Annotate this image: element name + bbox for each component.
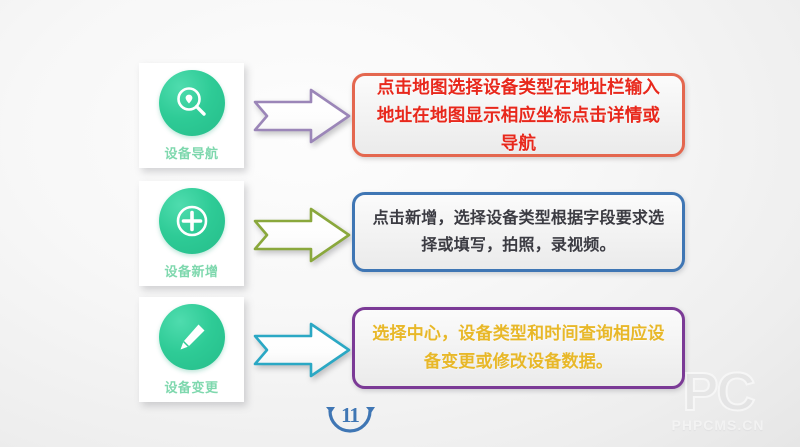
right-arrow-icon: [253, 88, 351, 144]
description-balloon-navigation: 点击地图选择设备类型在地址栏输入地址在地图显示相应坐标点击详情或导航: [352, 73, 685, 157]
slide-number-text: 11: [341, 405, 359, 426]
magnifier-search-icon: [159, 70, 225, 136]
app-card-label: 设备导航: [164, 143, 218, 162]
balloon-text: 点击新增，选择设备类型根据字段要求选择或填写，拍照，录视频。: [369, 205, 668, 259]
pencil-edit-icon: [159, 304, 225, 370]
slide-canvas: 设备导航 点击地图选择设备类型在地址栏输入地址在地图显示相应坐标点击详情或导航: [0, 0, 800, 447]
balloon-text: 点击地图选择设备类型在地址栏输入地址在地图显示相应坐标点击详情或导航: [369, 73, 668, 157]
balloon-text: 选择中心，设备类型和时间查询相应设备变更或修改设备数据。: [369, 320, 668, 376]
description-balloon-add: 点击新增，选择设备类型根据字段要求选择或填写，拍照，录视频。: [352, 192, 685, 272]
slide-number-badge: 11: [318, 398, 382, 438]
right-arrow-icon: [253, 207, 351, 263]
app-card-label: 设备新增: [164, 261, 218, 280]
watermark-text: PHPCMS.CN: [642, 417, 794, 433]
app-card-device-navigation[interactable]: 设备导航: [139, 63, 244, 168]
plus-circle-icon: [159, 188, 225, 254]
right-arrow-icon: [253, 322, 351, 378]
description-balloon-change: 选择中心，设备类型和时间查询相应设备变更或修改设备数据。: [352, 307, 685, 389]
app-card-device-change[interactable]: 设备变更: [139, 297, 244, 402]
app-card-label: 设备变更: [164, 377, 218, 396]
app-card-device-add[interactable]: 设备新增: [139, 181, 244, 286]
